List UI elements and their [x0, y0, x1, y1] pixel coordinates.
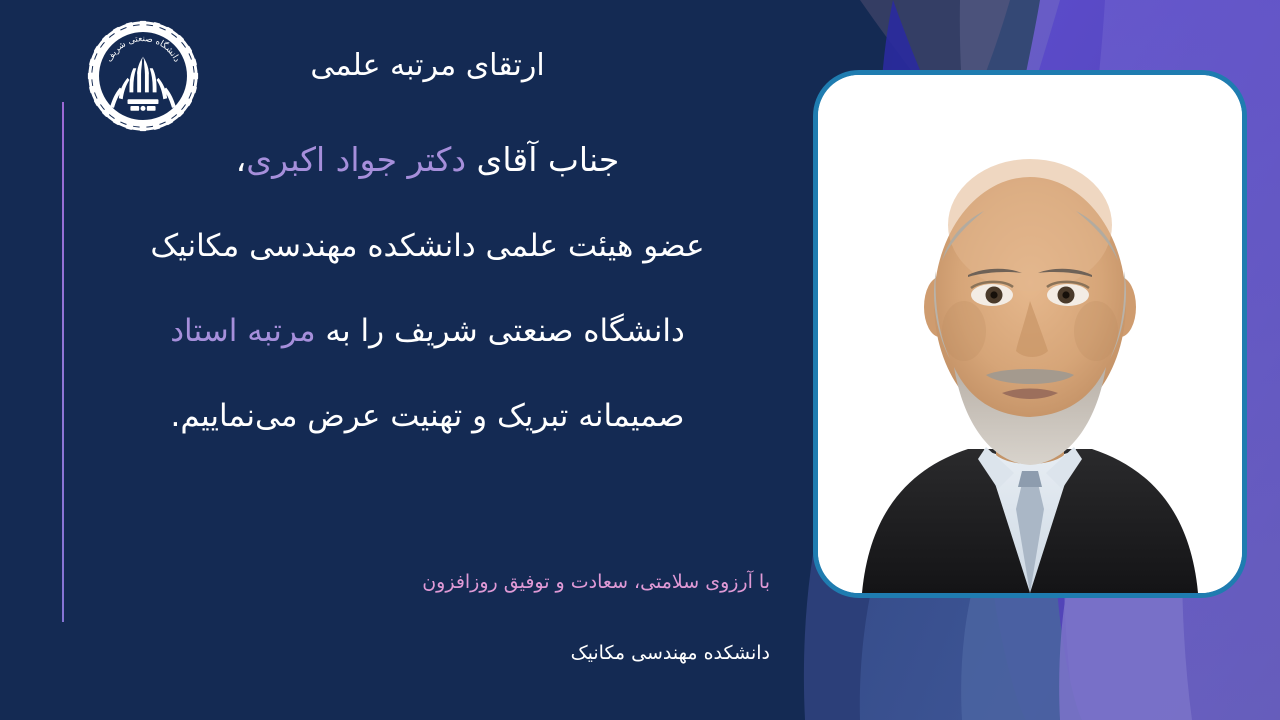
rank-prefix: دانشگاه صنعتی شریف را به [316, 313, 685, 349]
footer-wish-text: با آرزوی سلامتی، سعادت و توفیق روزافزون [95, 570, 770, 595]
headline-promotion: ارتقای مرتبه علمی [95, 48, 760, 84]
portrait-photo [818, 75, 1242, 593]
rank-title: مرتبه استاد [170, 313, 315, 349]
congratulation-line: صمیمانه تبریک و تهنیت عرض می‌نماییم. [95, 398, 760, 435]
announcement-slide: دانشگاه صنعتی شریف [0, 0, 1280, 720]
honoree-prefix: جناب آقای [466, 140, 619, 179]
portrait-frame [813, 70, 1247, 598]
vertical-accent-rule [62, 102, 64, 622]
honoree-line: جناب آقای دکتر جواد اکبری، [95, 140, 760, 180]
announcement-text-block: ارتقای مرتبه علمی جناب آقای دکتر جواد اک… [95, 48, 760, 435]
footer-department-name: دانشکده مهندسی مکانیک [95, 641, 770, 666]
honoree-suffix: ، [236, 140, 247, 179]
affiliation-line: عضو هیئت علمی دانشکده مهندسی مکانیک [95, 228, 760, 265]
footer-block: با آرزوی سلامتی، سعادت و توفیق روزافزون … [95, 570, 770, 665]
honoree-name: دکتر جواد اکبری [246, 140, 466, 179]
rank-line: دانشگاه صنعتی شریف را به مرتبه استاد [95, 313, 760, 350]
